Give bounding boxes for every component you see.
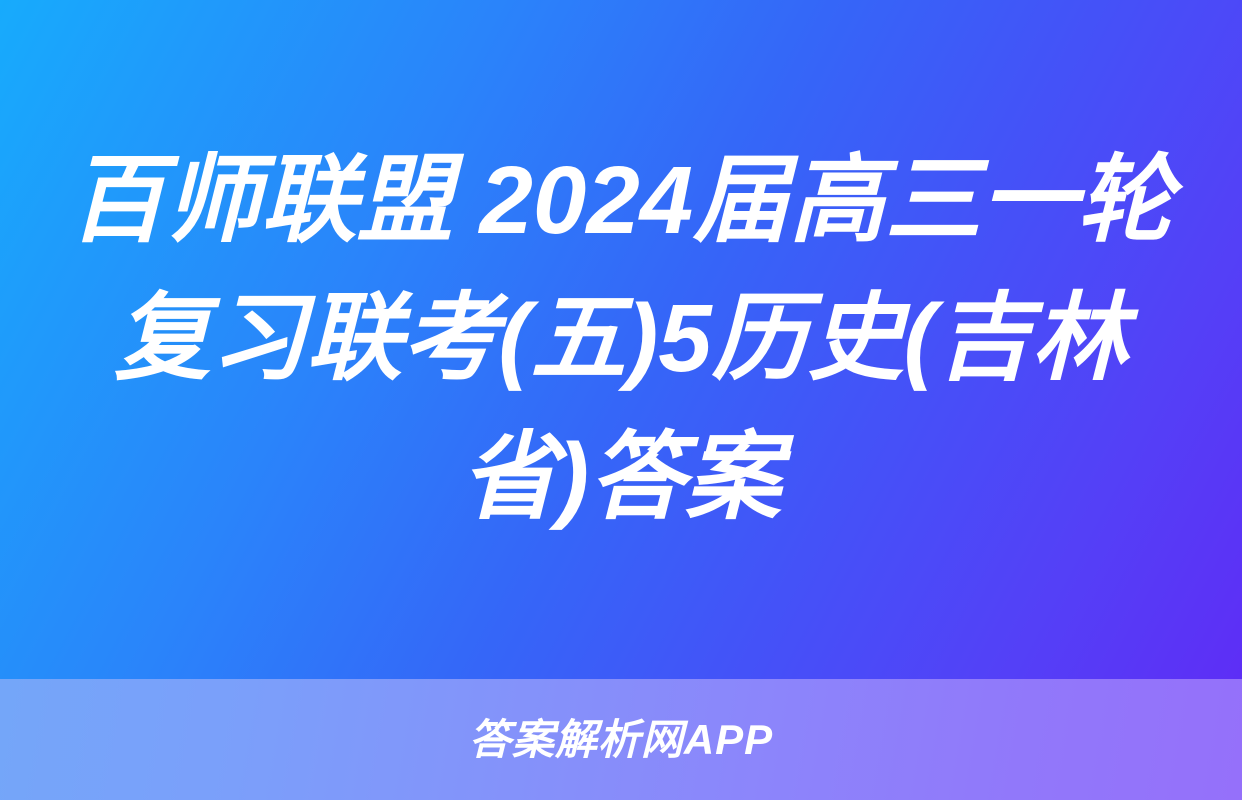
page-title: 百师联盟 2024届高三一轮复习联考(五)5历史(吉林省)答案 xyxy=(60,132,1182,547)
title-area: 百师联盟 2024届高三一轮复习联考(五)5历史(吉林省)答案 xyxy=(0,0,1242,679)
poster-canvas: 百师联盟 2024届高三一轮复习联考(五)5历史(吉林省)答案 答案解析网APP xyxy=(0,0,1242,800)
watermark-band: 答案解析网APP xyxy=(0,679,1242,800)
watermark-label: 答案解析网APP xyxy=(469,719,773,761)
